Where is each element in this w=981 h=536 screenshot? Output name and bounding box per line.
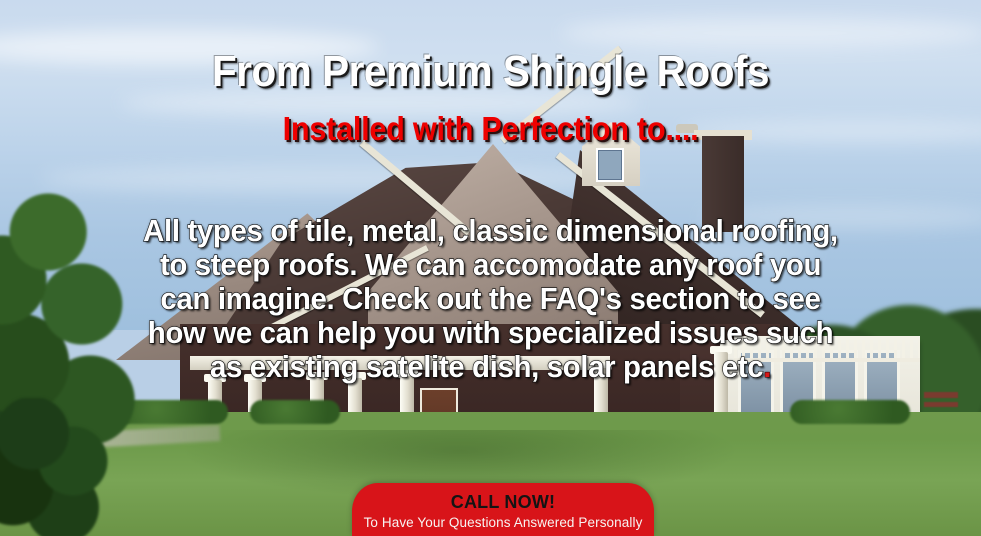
roofing-hero-banner: From Premium Shingle Roofs Installed wit… (0, 0, 981, 536)
text-overlay: From Premium Shingle Roofs Installed wit… (0, 0, 981, 536)
body-end-period: . (763, 349, 771, 384)
body-line-3: can imagine. Check out the FAQ's section… (82, 282, 900, 316)
body-line-1: All types of tile, metal, classic dimens… (82, 214, 900, 248)
headline: From Premium Shingle Roofs (39, 47, 942, 97)
call-now-button[interactable]: CALL NOW! To Have Your Questions Answere… (352, 483, 654, 536)
body-line-4: how we can help you with specialized iss… (82, 316, 900, 350)
body-line-5: as existing satelite dish, solar panels … (82, 350, 900, 384)
body-line-2: to steep roofs. We can accomodate any ro… (82, 248, 900, 282)
body-line-5-text: as existing satelite dish, solar panels … (210, 349, 763, 384)
call-now-label: CALL NOW! (352, 491, 654, 513)
subheadline: Installed with Perfection to.... (34, 110, 946, 148)
call-now-subtitle: To Have Your Questions Answered Personal… (352, 514, 654, 532)
body-copy: All types of tile, metal, classic dimens… (82, 214, 900, 384)
